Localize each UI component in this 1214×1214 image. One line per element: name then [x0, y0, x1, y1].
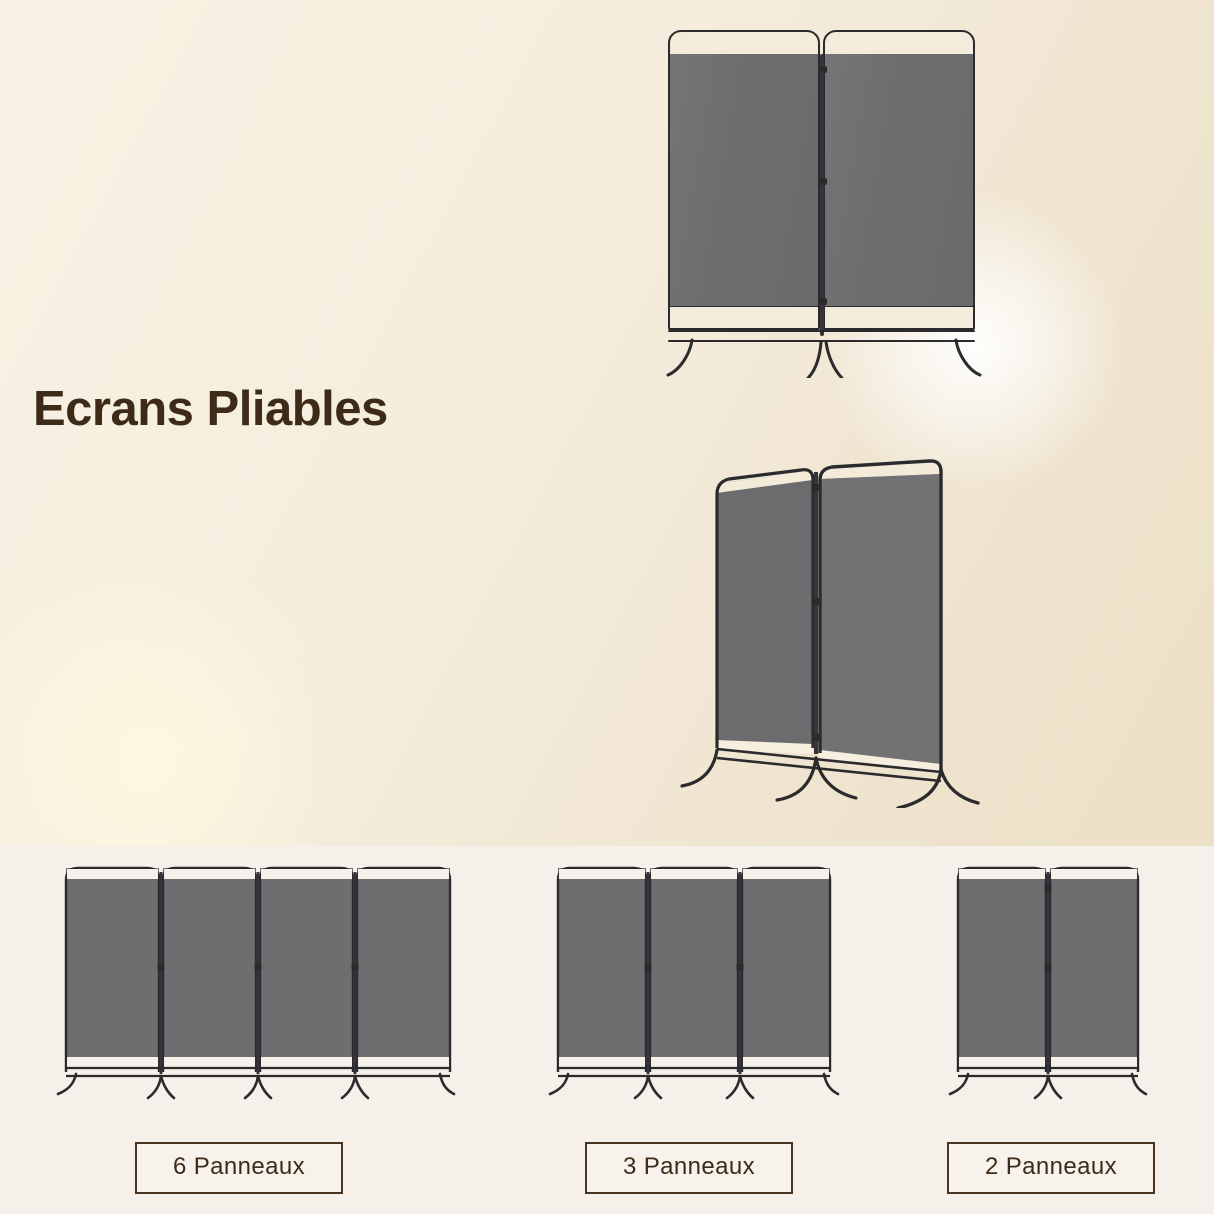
hinge-knob — [818, 66, 827, 73]
screen-feet — [656, 326, 996, 378]
variant-six-panel[interactable]: 6 Panneaux — [56, 846, 456, 1214]
front-view-screen — [668, 30, 978, 370]
panel-fabric — [825, 54, 973, 306]
variant-screen-art — [56, 846, 456, 1106]
panel-bottom-edge — [670, 306, 818, 308]
hinge-post — [820, 54, 824, 336]
variant-three-panel[interactable]: 3 Panneaux — [548, 846, 848, 1214]
variant-screen-art — [936, 846, 1166, 1106]
hinge-knob — [818, 178, 827, 185]
variant-label-six: 6 Panneaux — [135, 1142, 343, 1194]
screen-panel — [823, 30, 975, 330]
hinge-knob — [818, 298, 827, 305]
variant-screen-art — [548, 846, 848, 1106]
hero-section: Ecrans Pliables — [0, 0, 1214, 846]
variant-two-panel[interactable]: 2 Panneaux — [936, 846, 1166, 1214]
angled-screen-art — [660, 448, 990, 808]
variants-section: 6 Panneaux — [0, 846, 1214, 1214]
panel-fabric — [670, 54, 818, 306]
variant-label-three: 3 Panneaux — [585, 1142, 793, 1194]
panel-bottom-edge — [825, 306, 973, 308]
page-title: Ecrans Pliables — [33, 381, 388, 437]
product-marketing-image: Ecrans Pliables — [0, 0, 1214, 1214]
screen-panel — [668, 30, 820, 330]
angled-view-screen — [660, 448, 990, 808]
variant-label-two: 2 Panneaux — [947, 1142, 1155, 1194]
